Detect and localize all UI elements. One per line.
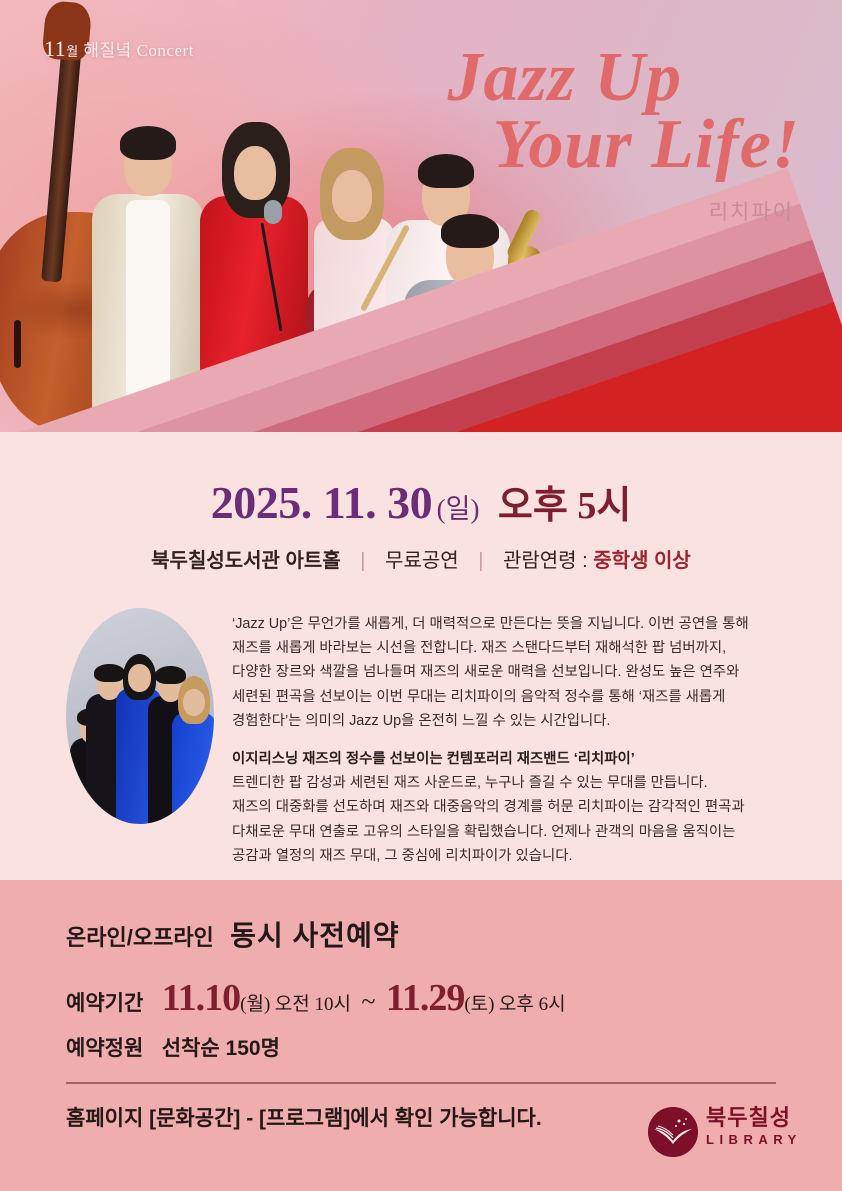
age-value: 중학생 이상 bbox=[593, 550, 691, 572]
band-portrait-oval bbox=[66, 608, 214, 824]
desc-p1-line2: 재즈를 새롭게 바라보는 시선을 전합니다. 재즈 스탠다드부터 재해석한 팝 … bbox=[232, 636, 810, 660]
homepage-note: 홈페이지 [문화공간] - [프로그램]에서 확인 가능합니다. bbox=[66, 1102, 542, 1132]
event-datetime: 2025. 11. 30 (일) 오후 5시 bbox=[0, 474, 842, 529]
desc-p2-line1: 트렌디한 팝 감성과 세련된 재즈 사운드로, 누구나 즐길 수 있는 무대를 … bbox=[232, 771, 810, 795]
age-label: 관람연령 : bbox=[503, 550, 593, 572]
hero-banner: 11월 해질녘 Concert Jazz Up Your Life! 리치파이 bbox=[0, 0, 842, 432]
reservation-channel: 온라인/오프라인 bbox=[66, 925, 214, 950]
footer-divider bbox=[66, 1082, 776, 1084]
desc-p2-line4: 공감과 열정의 재즈 무대, 그 중심에 리치파이가 있습니다. bbox=[232, 844, 810, 868]
period-start-time: 오전 10시 bbox=[275, 994, 351, 1015]
venue-name: 북두칠성도서관 아트홀 bbox=[151, 550, 341, 572]
period-start-date: 11.10 bbox=[162, 977, 240, 1019]
logo-name-en: LIBRARY bbox=[706, 1131, 802, 1148]
venue-line: 북두칠성도서관 아트홀 | 무료공연 | 관람연령 : 중학생 이상 bbox=[0, 544, 842, 573]
description-block: ‘Jazz Up’은 무언가를 새롭게, 더 매력적으로 만든다는 뜻을 지닙니… bbox=[232, 612, 810, 868]
portrait-member-5 bbox=[172, 674, 214, 824]
venue-separator-1: | bbox=[360, 550, 365, 572]
concert-poster: 11월 해질녘 Concert Jazz Up Your Life! 리치파이 … bbox=[0, 0, 842, 1191]
kicker-text: 해질녘 Concert bbox=[83, 41, 193, 60]
desc-p2-heading: 이지리스닝 재즈의 정수를 선보이는 컨템포러리 재즈밴드 ‘리치파이’ bbox=[232, 747, 810, 771]
period-tilde: ~ bbox=[361, 987, 375, 1016]
desc-p1-line4: 세련된 편곡을 선보이는 이번 무대는 리치파이의 음악적 정수를 통해 ‘재즈… bbox=[232, 685, 810, 709]
reservation-period-row: 예약기간 11.10(월) 오전 10시 ~ 11.29(토) 오후 6시 bbox=[66, 976, 566, 1020]
venue-separator-2: | bbox=[478, 550, 483, 572]
desc-p2-line2: 재즈의 대중화를 선도하며 재즈와 대중음악의 경계를 허문 리치파이는 감각적… bbox=[232, 795, 810, 819]
period-end-time: 오후 6시 bbox=[499, 994, 566, 1015]
period-end-dow: (토) bbox=[464, 994, 494, 1015]
poster-title: Jazz Up Your Life! bbox=[280, 44, 800, 178]
title-line-2: Your Life! bbox=[280, 111, 800, 178]
event-time: 오후 5시 bbox=[498, 485, 631, 527]
event-date: 2025. 11. 30 bbox=[211, 477, 432, 528]
reservation-section: 온라인/오프라인 동시 사전예약 예약기간 11.10(월) 오전 10시 ~ … bbox=[0, 880, 842, 1191]
desc-p1-line1: ‘Jazz Up’은 무언가를 새롭게, 더 매력적으로 만든다는 뜻을 지닙니… bbox=[232, 612, 810, 636]
open-book-icon bbox=[648, 1107, 698, 1157]
desc-p1-line5: 경험한다’는 의미의 Jazz Up을 온전히 느낄 수 있는 시간입니다. bbox=[232, 709, 810, 733]
logo-wordmark: 북두칠성 LIBRARY bbox=[706, 1105, 802, 1148]
book-logo-icon bbox=[648, 1107, 698, 1157]
capacity-value: 선착순 150명 bbox=[162, 1037, 280, 1060]
title-line-1: Jazz Up bbox=[280, 44, 682, 111]
period-end-date: 11.29 bbox=[386, 977, 464, 1019]
desc-p1-line3: 다양한 장르와 색깔을 넘나들며 재즈의 새로운 매력을 선보입니다. 완성도 … bbox=[232, 660, 810, 684]
kicker-month-number: 11 bbox=[44, 36, 66, 61]
desc-p2-line3: 다채로운 무대 연출로 고유의 스타일을 확립했습니다. 언제나 관객의 마음을… bbox=[232, 820, 810, 844]
info-section: 2025. 11. 30 (일) 오후 5시 북두칠성도서관 아트홀 | 무료공… bbox=[0, 432, 842, 880]
reservation-headline: 동시 사전예약 bbox=[230, 920, 399, 951]
capacity-label: 예약정원 bbox=[66, 1037, 143, 1060]
period-label: 예약기간 bbox=[66, 992, 143, 1015]
reservation-capacity-row: 예약정원 선착순 150명 bbox=[66, 1032, 280, 1062]
reservation-heading: 온라인/오프라인 동시 사전예약 bbox=[66, 914, 400, 954]
logo-name-kr: 북두칠성 bbox=[706, 1105, 802, 1131]
library-logo: 북두칠성 LIBRARY bbox=[648, 1105, 796, 1163]
ticket-price: 무료공연 bbox=[385, 550, 459, 572]
kicker-month-unit: 월 bbox=[66, 44, 78, 59]
artist-name: 리치파이 bbox=[709, 196, 794, 226]
event-day-of-week: (일) bbox=[437, 494, 480, 524]
period-start-dow: (월) bbox=[240, 994, 270, 1015]
poster-kicker: 11월 해질녘 Concert bbox=[44, 36, 194, 62]
desc-spacer bbox=[232, 733, 810, 747]
